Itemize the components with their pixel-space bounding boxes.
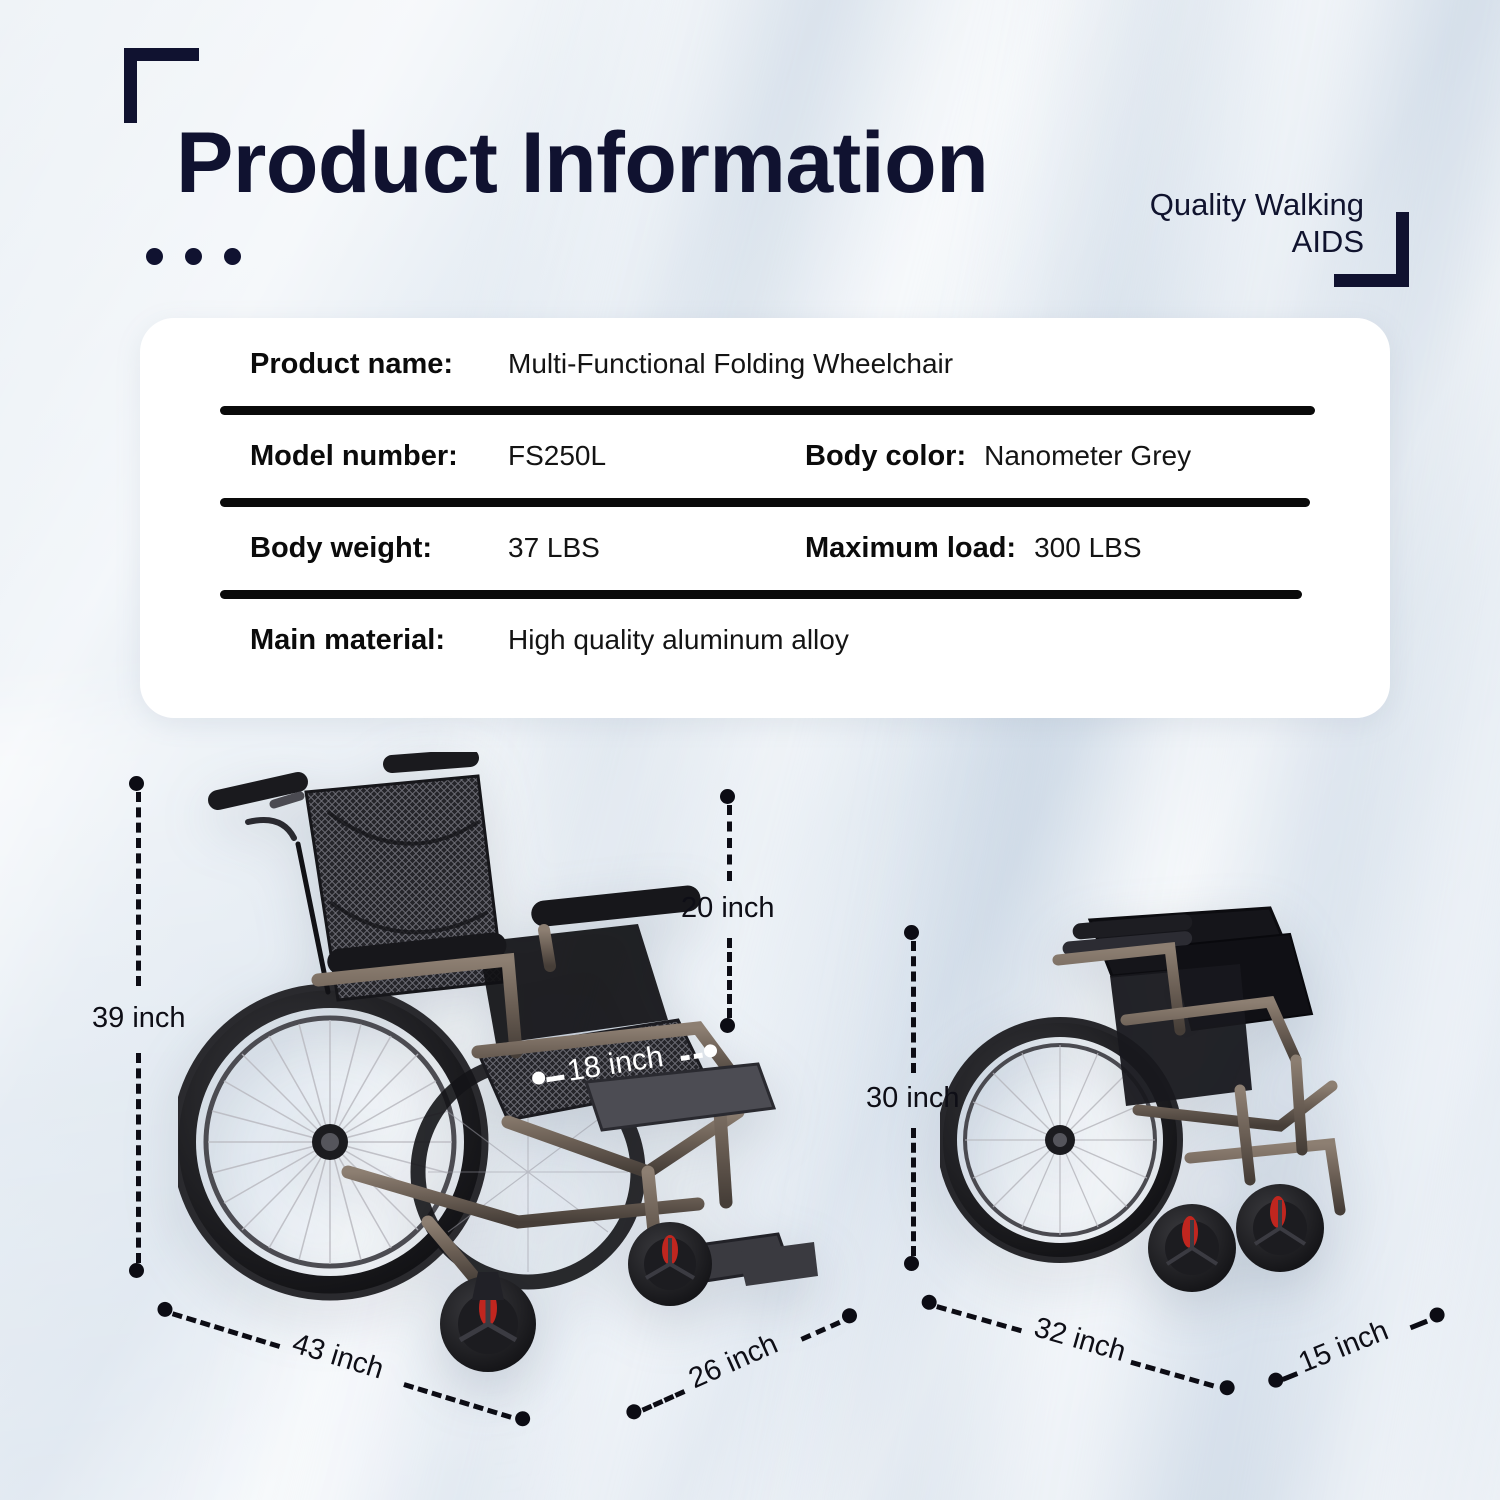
product-spec-card: Product name: Multi-Functional Folding W…: [140, 318, 1390, 718]
product-photo-wheelchair-folded: [940, 890, 1410, 1320]
dim-18-dot-right: [703, 1043, 718, 1058]
dim-39-dot-bottom: [129, 1263, 144, 1278]
tagline-line-1: Quality Walking: [934, 186, 1364, 223]
dim-label-32-inch: 32 inch: [1030, 1312, 1129, 1369]
dim-label-20-inch: 20 inch: [681, 892, 775, 925]
dim-15-line-right: [1410, 1319, 1429, 1330]
spec-label-maximum-load: Maximum load:: [805, 532, 1016, 565]
dim-label-15-inch: 15 inch: [1294, 1315, 1393, 1381]
dim-label-39-inch: 39 inch: [92, 1002, 186, 1035]
folded-castor-b: [1236, 1184, 1324, 1272]
dim-18-line-right: [680, 1053, 703, 1061]
brand-tagline: Quality Walking AIDS: [934, 186, 1364, 260]
spec-value-body-color: Nanometer Grey: [984, 440, 1191, 472]
folded-castor-a: [1148, 1204, 1236, 1292]
spec-row-product-name: Product name: Multi-Functional Folding W…: [140, 348, 1390, 440]
dot-1-icon: [146, 248, 163, 265]
dim-30-line-bottom: [911, 1128, 916, 1256]
spec-value-model-number: FS250L: [508, 440, 606, 472]
spec-label-main-material: Main material:: [250, 624, 490, 657]
spec-row-body-weight: Body weight: 37 LBS Maximum load: 300 LB…: [140, 532, 1390, 624]
corner-bracket-top-left-icon: [124, 48, 199, 123]
dim-20-line-top: [727, 805, 732, 881]
decorative-dots: [146, 248, 241, 265]
dim-39-line-top: [136, 792, 141, 986]
tagline-line-2: AIDS: [934, 223, 1364, 260]
dim-group-15-inch: 15 inch: [1266, 1320, 1439, 1460]
dot-2-icon: [185, 248, 202, 265]
spec-label-body-weight: Body weight:: [250, 532, 490, 565]
page-title: Product Information: [176, 118, 988, 208]
spec-value-maximum-load: 300 LBS: [1034, 532, 1141, 564]
spec-divider-2: [220, 498, 1310, 507]
dim-18-dot-left: [531, 1071, 546, 1086]
dim-30-dot-top: [904, 925, 919, 940]
dim-32-line-right: [1130, 1360, 1214, 1389]
spec-value-main-material: High quality aluminum alloy: [508, 624, 849, 656]
spec-label-body-color: Body color:: [805, 440, 966, 473]
dim-15-line-left: [1282, 1371, 1299, 1382]
dim-30-line-top: [911, 941, 916, 1073]
spec-divider-1: [220, 406, 1315, 415]
dim-39-dot-top: [129, 776, 144, 791]
dot-3-icon: [224, 248, 241, 265]
product-photo-wheelchair-open: [178, 752, 818, 1392]
spec-divider-3: [220, 590, 1302, 599]
spec-rows: Product name: Multi-Functional Folding W…: [140, 318, 1390, 718]
dim-26-dot-left: [624, 1402, 644, 1422]
front-castor-wheel-b: [628, 1222, 712, 1306]
dim-32-dot-right: [1218, 1378, 1237, 1397]
dim-39-line-bottom: [136, 1053, 141, 1263]
spec-row-model-number: Model number: FS250L Body color: Nanomet…: [140, 440, 1390, 532]
dim-20-dot-top: [720, 789, 735, 804]
spec-label-model-number: Model number:: [250, 440, 490, 473]
dim-20-line-bottom: [727, 938, 732, 1018]
product-info-page: Product Information Quality Walking AIDS…: [0, 0, 1500, 1500]
spec-row-main-material: Main material: High quality aluminum all…: [140, 624, 1390, 716]
spec-cell-body-color: Body color: Nanometer Grey: [805, 440, 1191, 473]
spec-value-body-weight: 37 LBS: [508, 532, 600, 564]
rear-wheel-left: [178, 987, 485, 1297]
dim-26-dot-right: [840, 1306, 860, 1326]
dim-18-line-left: [546, 1075, 565, 1083]
spec-cell-maximum-load: Maximum load: 300 LBS: [805, 532, 1142, 565]
dim-26-line-left: [641, 1389, 685, 1412]
dim-group-32-inch: 32 inch: [894, 1293, 1242, 1490]
dim-30-dot-bottom: [904, 1256, 919, 1271]
corner-bracket-bottom-right-icon: [1334, 212, 1409, 287]
spec-label-product-name: Product name:: [250, 348, 490, 381]
spec-value-product-name: Multi-Functional Folding Wheelchair: [508, 348, 953, 380]
dim-label-30-inch: 30 inch: [866, 1082, 960, 1115]
dim-15-dot-right: [1427, 1305, 1447, 1325]
dim-43-dot-right: [513, 1409, 532, 1428]
